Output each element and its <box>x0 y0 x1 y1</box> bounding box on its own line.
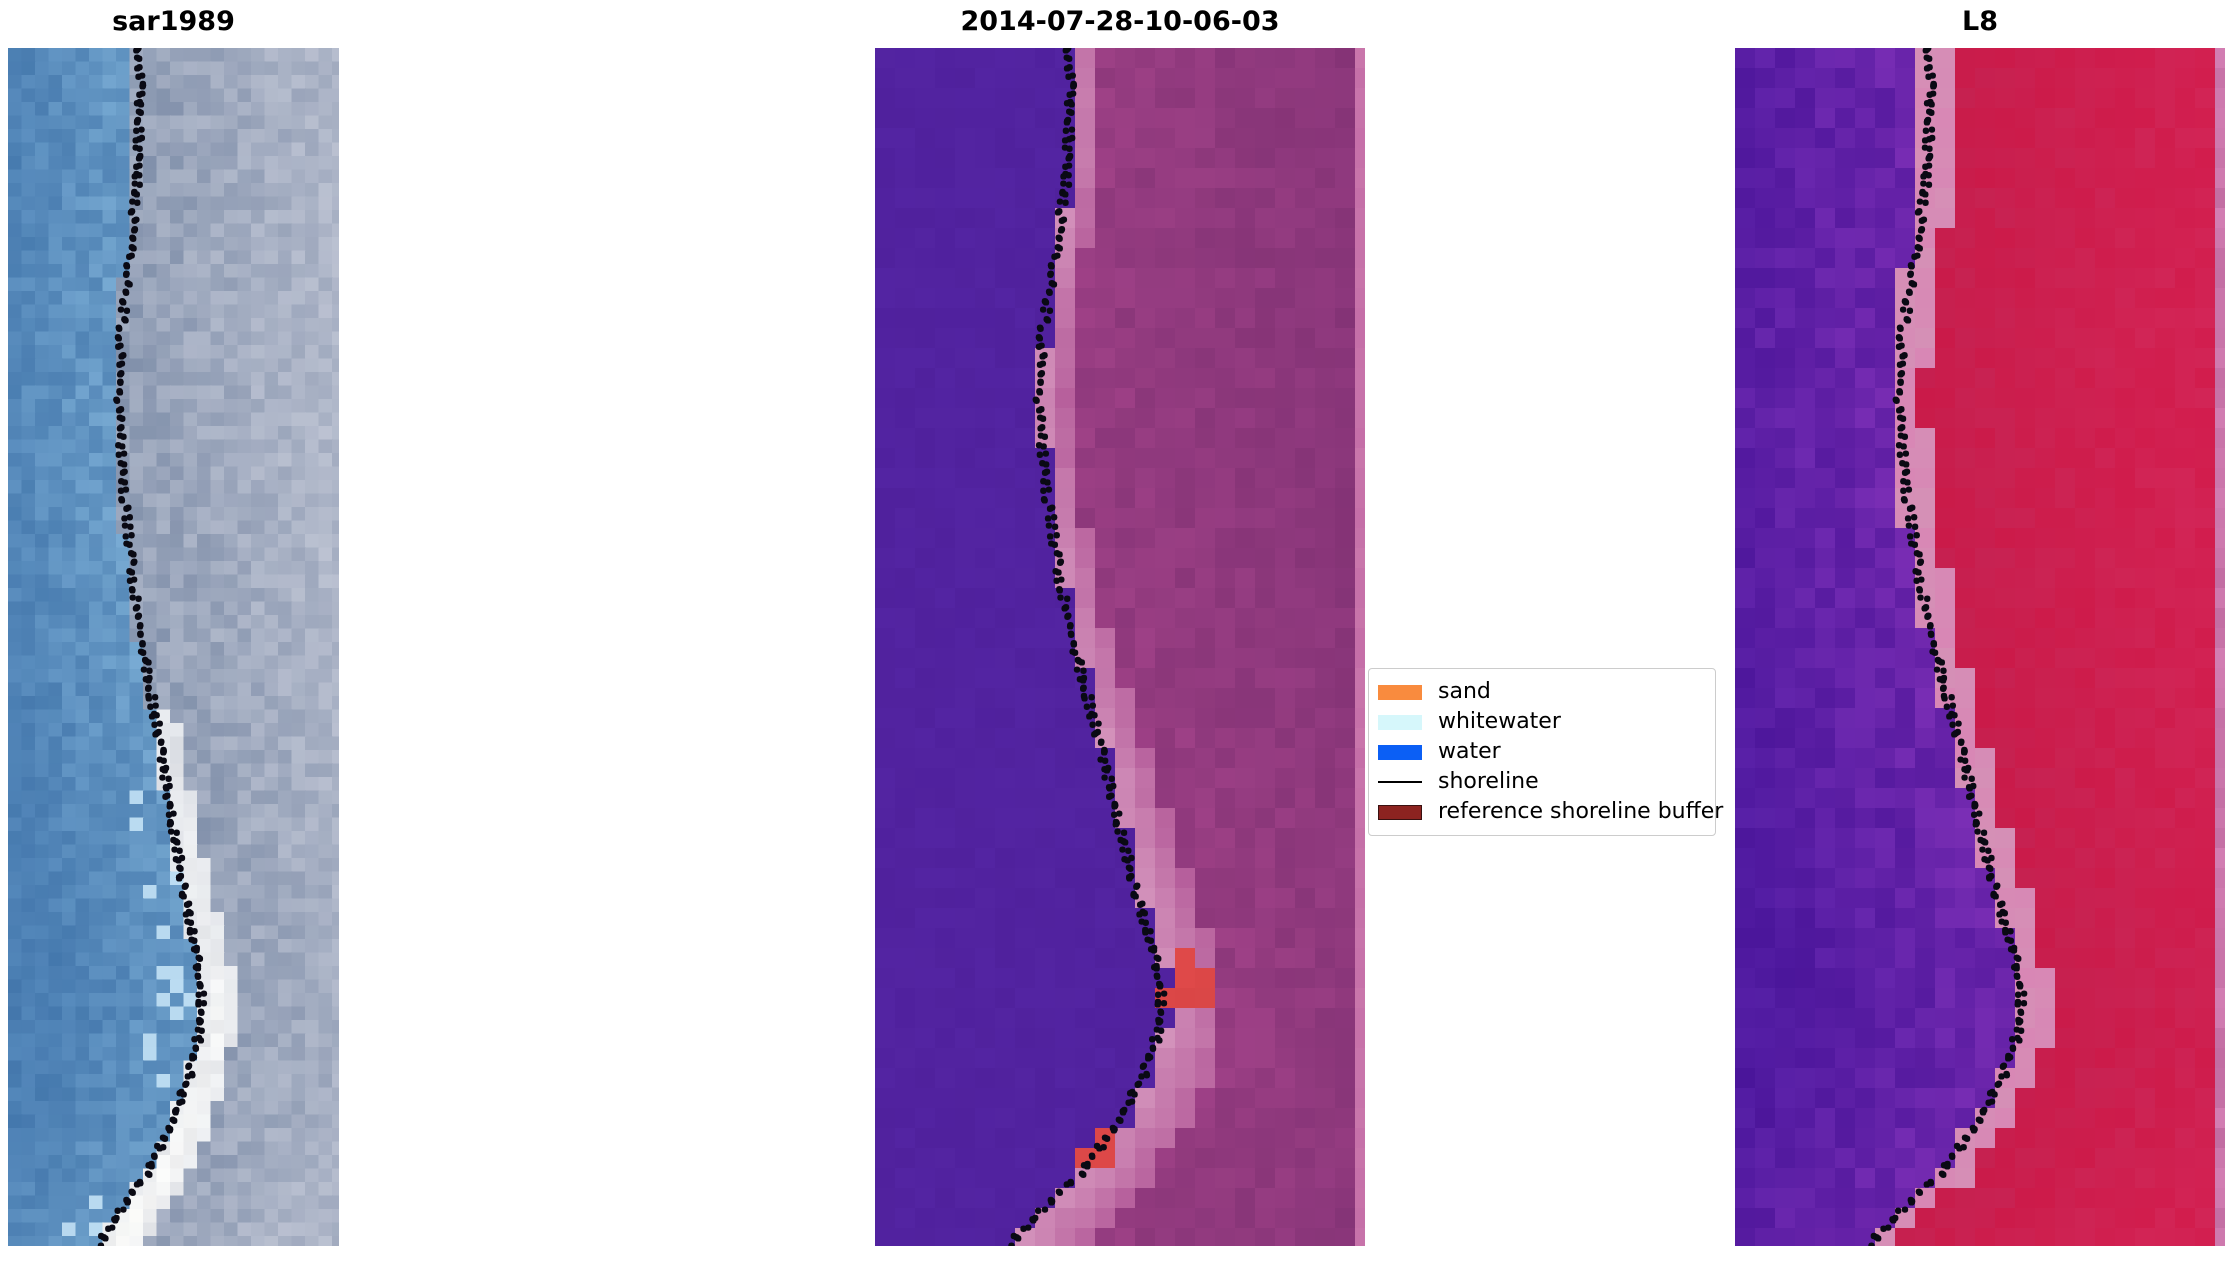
legend: sand whitewater water shoreline referenc… <box>1368 668 1716 836</box>
legend-label-reference-buffer: reference shoreline buffer <box>1438 799 1723 825</box>
panel-title-classified: 2014-07-28-10-06-03 <box>875 6 1365 38</box>
sar-image-panel[interactable] <box>8 48 339 1246</box>
whitewater-color-swatch <box>1378 715 1422 730</box>
legend-label-water: water <box>1438 739 1501 765</box>
panel-title-l8: L8 <box>1735 6 2225 38</box>
legend-label-whitewater: whitewater <box>1438 709 1561 735</box>
legend-label-sand: sand <box>1438 679 1491 705</box>
reference-shoreline-buffer-color-swatch <box>1378 805 1422 820</box>
sand-color-swatch <box>1378 685 1422 700</box>
shoreline-line-sample <box>1378 775 1422 790</box>
legend-item-shoreline: shoreline <box>1378 767 1705 797</box>
legend-label-shoreline: shoreline <box>1438 769 1539 795</box>
legend-item-sand: sand <box>1378 677 1705 707</box>
water-color-swatch <box>1378 745 1422 760</box>
legend-item-whitewater: whitewater <box>1378 707 1705 737</box>
l8-image-panel[interactable] <box>1735 48 2225 1246</box>
classified-image-panel[interactable] <box>875 48 1365 1246</box>
figure-canvas: sar1989 2014-07-28-10-06-03 L8 sand whit… <box>0 0 2231 1283</box>
panel-title-sar: sar1989 <box>8 6 339 38</box>
legend-item-reference-buffer: reference shoreline buffer <box>1378 797 1705 827</box>
legend-item-water: water <box>1378 737 1705 767</box>
